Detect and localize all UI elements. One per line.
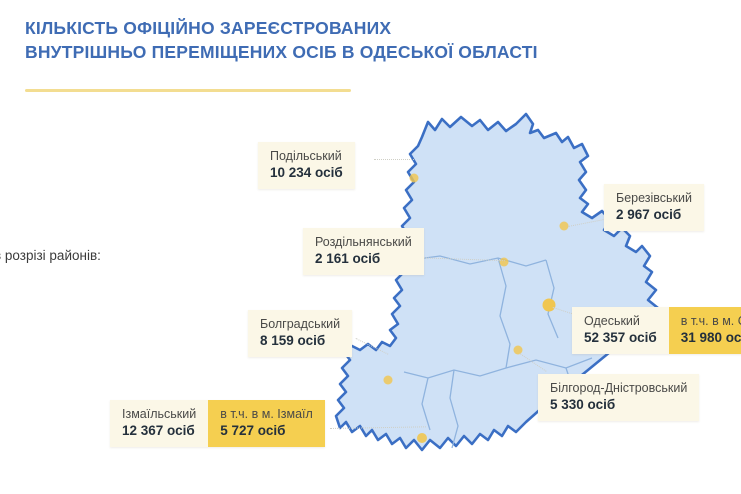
callout-izmailskyi-name: Ізмаїльський [122, 407, 196, 422]
marker-odesa-city [543, 299, 556, 312]
infographic-canvas: КІЛЬКІСТЬ ОФІЦІЙНО ЗАРЕЄСТРОВАНИХ ВНУТРІ… [0, 0, 741, 494]
callout-rozdilnyanskyi-main: Роздільнянський 2 161 осіб [303, 228, 424, 275]
callout-berezivskyi-value: 2 967 осіб [616, 206, 692, 223]
callout-odeskyi-city-value: 31 980 осіб [681, 329, 741, 346]
callout-odeskyi-value: 52 357 осіб [584, 329, 657, 346]
marker-bolhrad [384, 376, 393, 385]
callout-izmailskyi[interactable]: Ізмаїльський 12 367 осіб в т.ч. в м. Ізм… [110, 400, 325, 447]
callout-berezivskyi-main: Березівський 2 967 осіб [604, 184, 704, 231]
marker-bilhorod [514, 346, 523, 355]
callout-rozdilnyanskyi-value: 2 161 осіб [315, 250, 412, 267]
marker-berezivskyi [560, 222, 569, 231]
callout-rozdilnyanskyi-name: Роздільнянський [315, 235, 412, 250]
breakdown-caption: в розрізі районів: [0, 248, 101, 263]
callout-odeskyi-city-highlight: в т.ч. в м. Од 31 980 осіб [669, 307, 741, 354]
marker-podilskyi [410, 174, 419, 183]
callout-odeskyi-main: Одеський 52 357 осіб [572, 307, 669, 354]
callout-izmail-city-value: 5 727 осіб [220, 422, 313, 439]
callout-bolhradskyi-main: Болградський 8 159 осіб [248, 310, 352, 357]
title-underline-rule [25, 89, 351, 92]
page-title-line-1: КІЛЬКІСТЬ ОФІЦІЙНО ЗАРЕЄСТРОВАНИХ [25, 16, 665, 40]
marker-rozdilnyanskyi [500, 258, 509, 267]
callout-podilskyi-main: Подільський 10 234 осіб [258, 142, 355, 189]
marker-izmail [417, 433, 427, 443]
callout-izmailskyi-value: 12 367 осіб [122, 422, 196, 439]
callout-bilhorod-main: Білгород-Дністровський 5 330 осіб [538, 374, 699, 421]
callout-izmailskyi-main: Ізмаїльський 12 367 осіб [110, 400, 208, 447]
callout-bilhorod-value: 5 330 осіб [550, 396, 687, 413]
callout-bilhorod-name: Білгород-Дністровський [550, 381, 687, 396]
callout-izmail-city-label: в т.ч. в м. Ізмаїл [220, 407, 313, 422]
callout-podilskyi[interactable]: Подільський 10 234 осіб [258, 142, 355, 189]
callout-berezivskyi[interactable]: Березівський 2 967 осіб [604, 184, 704, 231]
callout-bilhorod-dnistrovskyi[interactable]: Білгород-Дністровський 5 330 осіб [538, 374, 699, 421]
callout-rozdilnyanskyi[interactable]: Роздільнянський 2 161 осіб [303, 228, 424, 275]
callout-podilskyi-value: 10 234 осіб [270, 164, 343, 181]
callout-bolhradskyi-name: Болградський [260, 317, 340, 332]
callout-berezivskyi-name: Березівський [616, 191, 692, 206]
callout-odeskyi-name: Одеський [584, 314, 657, 329]
callout-izmail-city-highlight: в т.ч. в м. Ізмаїл 5 727 осіб [208, 400, 325, 447]
callout-odeskyi[interactable]: Одеський 52 357 осіб в т.ч. в м. Од 31 9… [572, 307, 741, 354]
callout-bolhradskyi-value: 8 159 осіб [260, 332, 340, 349]
callout-odeskyi-city-label: в т.ч. в м. Од [681, 314, 741, 329]
page-title: КІЛЬКІСТЬ ОФІЦІЙНО ЗАРЕЄСТРОВАНИХ ВНУТРІ… [25, 16, 665, 64]
callout-podilskyi-name: Подільський [270, 149, 343, 164]
page-title-line-2: ВНУТРІШНЬО ПЕРЕМІЩЕНИХ ОСІБ В ОДЕСЬКОЇ О… [25, 40, 665, 64]
callout-bolhradskyi[interactable]: Болградський 8 159 осіб [248, 310, 352, 357]
